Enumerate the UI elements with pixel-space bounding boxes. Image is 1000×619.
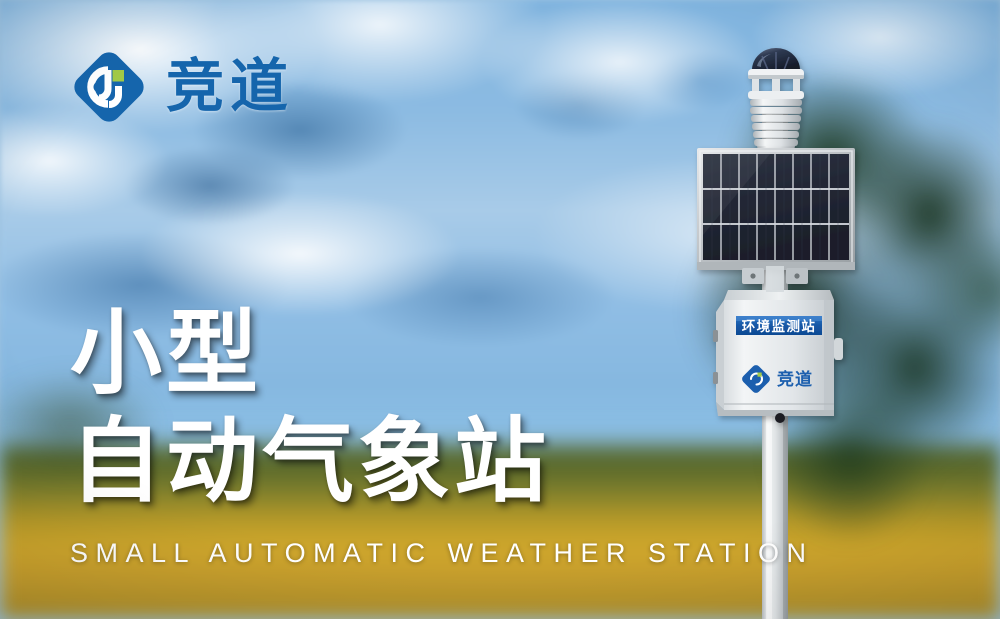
weather-station-banner: 环境监测站 竞道 [0,0,1000,619]
jingdao-diamond-logo-icon [70,48,148,126]
subtitle: SMALL AUTOMATIC WEATHER STATION [70,538,814,569]
headline-block: 小型 自动气象站 SMALL AUTOMATIC WEATHER STATION [70,300,814,569]
solar-panel [697,148,855,284]
title-line-2: 自动气象站 [70,408,814,516]
brand-name: 竞道 [166,58,294,116]
title-line-1: 小型 [70,300,814,408]
brand-logo: 竞道 [70,48,294,126]
